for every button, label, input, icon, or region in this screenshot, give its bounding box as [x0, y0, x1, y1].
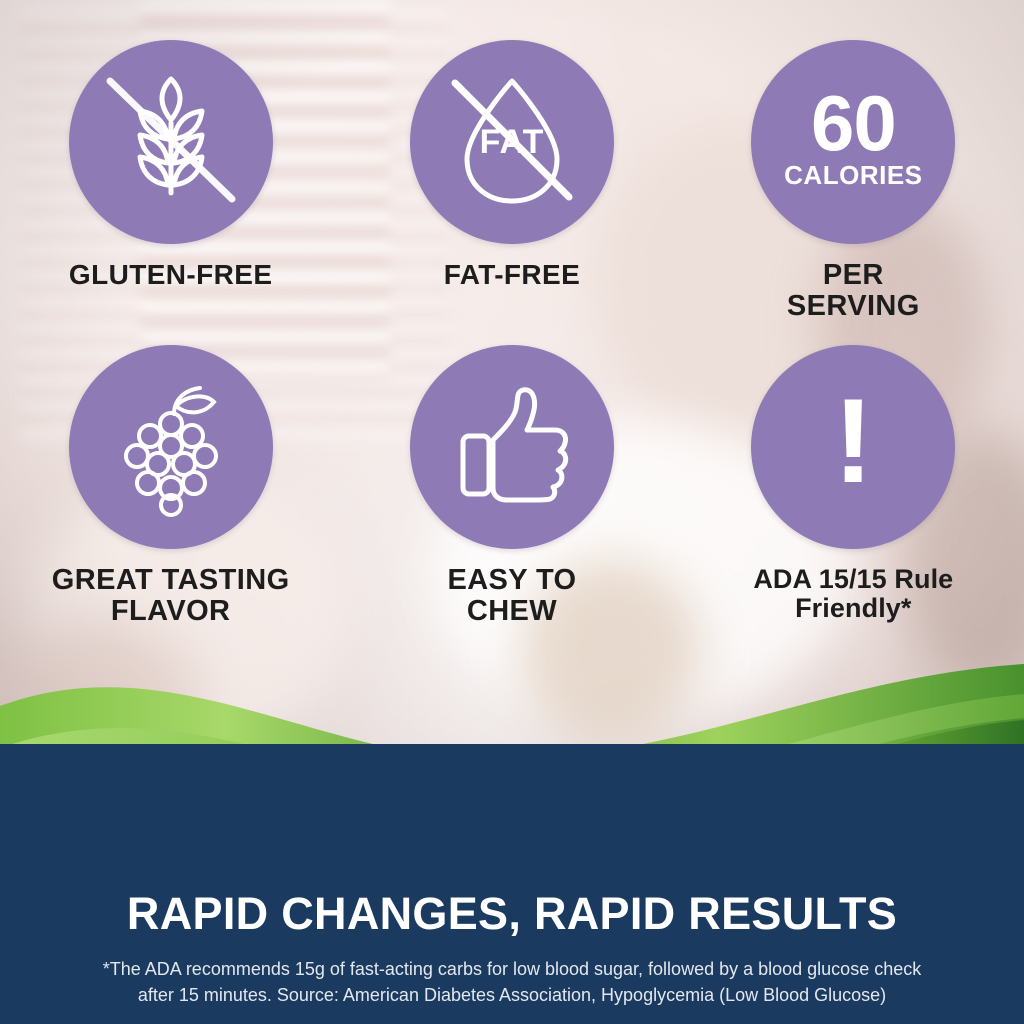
- badge-circle: [69, 40, 273, 244]
- calories-number: 60: [811, 89, 896, 158]
- grapes-icon: [96, 370, 246, 525]
- footer-headline: RAPID CHANGES, RAPID RESULTS: [0, 888, 1024, 940]
- badge-label-line: ADA 15/15 Rule: [753, 565, 953, 594]
- exclamation-mark-icon: !: [833, 381, 873, 501]
- badge-fat-free: FAT FAT-FREE: [341, 40, 682, 345]
- thumbs-up-icon: [437, 370, 587, 525]
- badge-label-line: EASY TO: [447, 565, 576, 596]
- promo-graphic: GLUTEN-FREE FAT FAT-FREE 60 CALORI: [0, 0, 1024, 1024]
- badge-circle: [69, 345, 273, 549]
- footer-content: RAPID CHANGES, RAPID RESULTS *The ADA re…: [0, 888, 1024, 1008]
- footer-disclaimer-line: *The ADA recommends 15g of fast-acting c…: [62, 956, 962, 982]
- footer-disclaimer-line: after 15 minutes. Source: American Diabe…: [62, 982, 962, 1008]
- wheat-no-symbol-icon: [96, 65, 246, 220]
- fat-droplet-no-symbol-icon: FAT: [437, 65, 587, 220]
- badge-label: FAT-FREE: [444, 260, 580, 290]
- badge-circle: 60 CALORIES: [751, 40, 955, 244]
- badge-calories: 60 CALORIES PER SERVING: [683, 40, 1024, 345]
- calories-word: CALORIES: [784, 160, 922, 191]
- badge-circle: FAT: [410, 40, 614, 244]
- badge-label: EASY TO CHEW: [447, 565, 576, 628]
- badge-gluten-free: GLUTEN-FREE: [0, 40, 341, 345]
- badge-circle: [410, 345, 614, 549]
- badge-circle: !: [751, 345, 955, 549]
- badge-label: PER SERVING: [787, 260, 920, 323]
- badge-label-line: FLAVOR: [52, 596, 290, 627]
- badge-label-line: Friendly*: [753, 594, 953, 623]
- feature-badge-grid: GLUTEN-FREE FAT FAT-FREE 60 CALORI: [0, 40, 1024, 650]
- calories-icon: 60 CALORIES: [784, 89, 922, 191]
- footer-disclaimer: *The ADA recommends 15g of fast-acting c…: [0, 956, 1024, 1008]
- badge-label-line: PER: [787, 260, 920, 291]
- badge-label-line: SERVING: [787, 291, 920, 322]
- badge-label-line: CHEW: [447, 596, 576, 627]
- badge-ada-rule: ! ADA 15/15 Rule Friendly*: [683, 345, 1024, 650]
- badge-label: GREAT TASTING FLAVOR: [52, 565, 290, 628]
- badge-great-tasting-flavor: GREAT TASTING FLAVOR: [0, 345, 341, 650]
- badge-label-line: GREAT TASTING: [52, 565, 290, 596]
- badge-easy-to-chew: EASY TO CHEW: [341, 345, 682, 650]
- badge-label: GLUTEN-FREE: [69, 260, 273, 290]
- badge-label: ADA 15/15 Rule Friendly*: [753, 565, 953, 623]
- footer-banner: RAPID CHANGES, RAPID RESULTS *The ADA re…: [0, 744, 1024, 1024]
